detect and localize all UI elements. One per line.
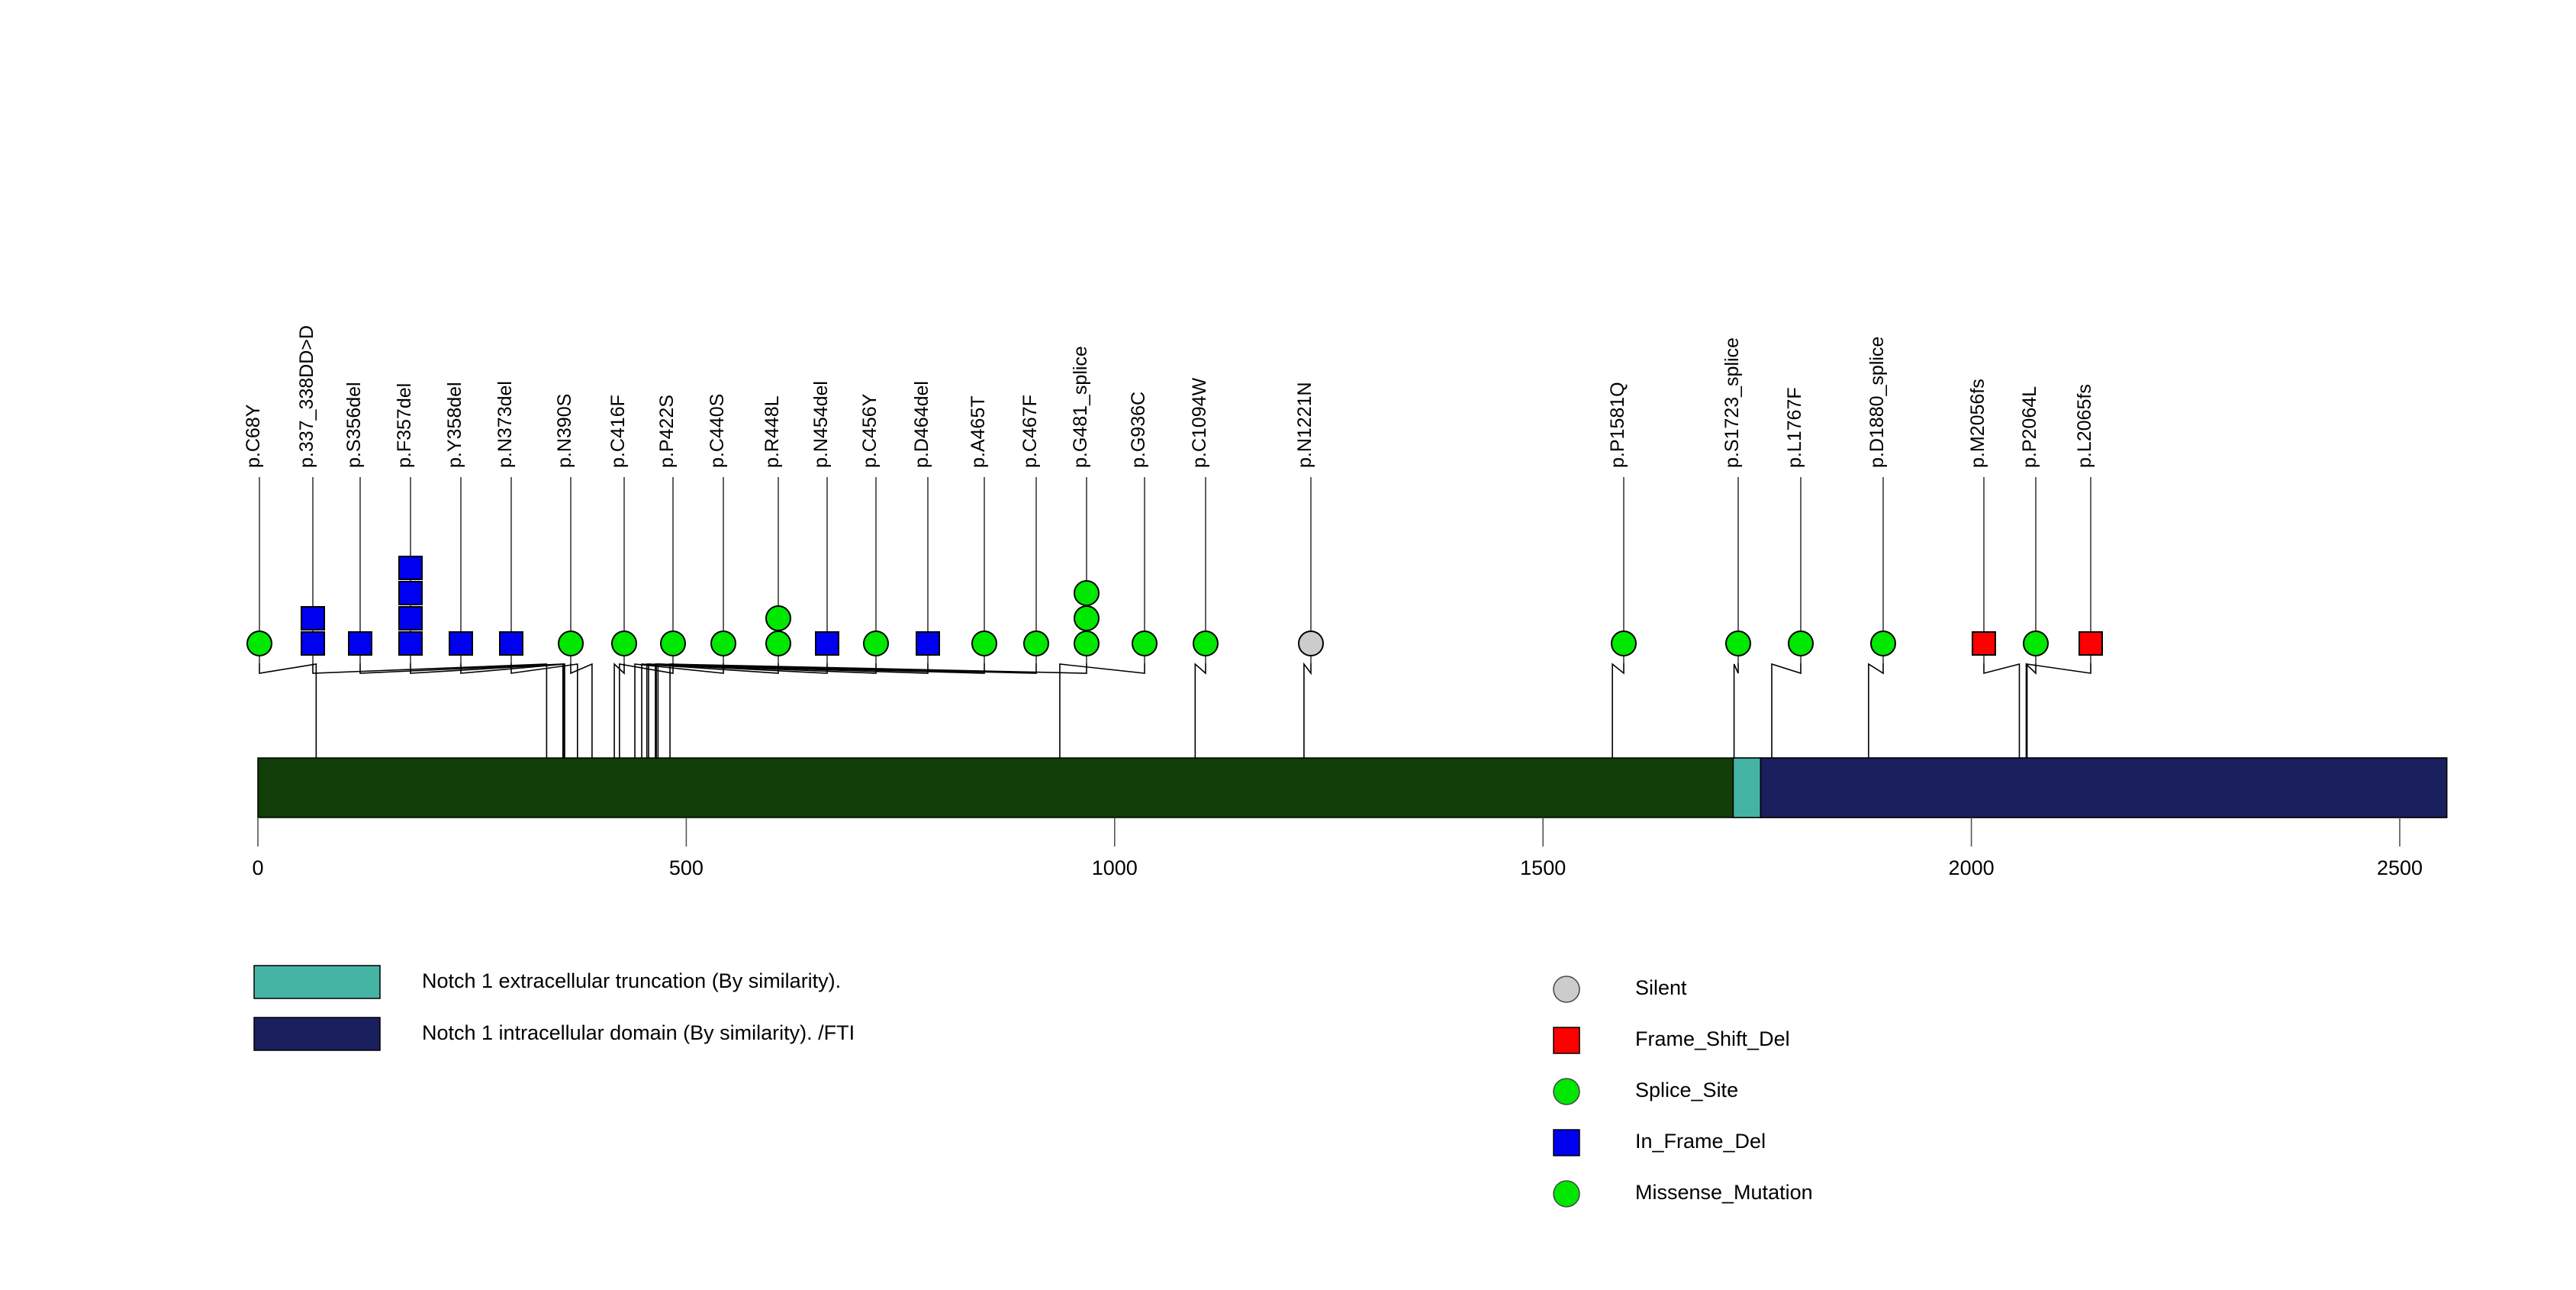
mutation-marker-circle[interactable] (1789, 631, 1813, 656)
type-legend-label: Missense_Mutation (1635, 1181, 1813, 1204)
mutation-label: p.C456Y (859, 393, 881, 468)
mutation-marker-square[interactable] (399, 556, 422, 579)
mutation-label: p.C467F (1019, 395, 1041, 468)
domain-legend-label: Notch 1 intracellular domain (By similar… (422, 1021, 855, 1044)
axis-tick-label: 2500 (2377, 856, 2423, 879)
mutation-label: p.C1094W (1189, 377, 1210, 468)
mutation-marker-square[interactable] (349, 632, 372, 655)
mutation-label: p.C440S (707, 394, 728, 468)
mutation-marker-circle[interactable] (1299, 631, 1323, 656)
mutation-label: p.N373del (494, 381, 516, 468)
type-legend-label: In_Frame_Del (1635, 1130, 1766, 1153)
mutation-label: p.N454del (810, 381, 832, 468)
mutation-marker-circle[interactable] (1871, 631, 1895, 656)
domain-legend-swatch (254, 1017, 380, 1050)
domain-legend-swatch (254, 966, 380, 998)
protein-domain-0[interactable] (1733, 758, 1760, 818)
mutation-marker-circle[interactable] (1193, 631, 1218, 656)
mutation-marker-circle[interactable] (711, 631, 736, 656)
type-legend-label: Frame_Shift_Del (1635, 1027, 1790, 1050)
mutation-marker-circle[interactable] (247, 631, 272, 656)
mutation-marker-circle[interactable] (1024, 631, 1048, 656)
mutation-marker-circle[interactable] (661, 631, 685, 656)
mutation-marker-circle[interactable] (766, 606, 791, 630)
type-legend-swatch-square (1554, 1130, 1579, 1156)
mutation-marker-square[interactable] (399, 607, 422, 630)
mutation-label: p.N1221N (1294, 382, 1315, 468)
axis-tick-label: 1000 (1092, 856, 1138, 879)
mutation-label: p.P422S (656, 395, 678, 468)
protein-backbone-group (258, 758, 2447, 818)
type-legend-swatch-circle (1554, 1079, 1579, 1105)
type-legend-label: Splice_Site (1635, 1079, 1738, 1101)
mutation-label: p.A465T (968, 395, 989, 468)
mutation-marker-circle[interactable] (1074, 631, 1099, 656)
protein-domain-1[interactable] (1760, 758, 2446, 818)
mutation-marker-square[interactable] (301, 632, 324, 655)
mutation-label: p.M2056fs (1967, 379, 1988, 468)
mutation-label: p.L2065fs (2074, 384, 2095, 468)
mutation-marker-circle[interactable] (1074, 581, 1099, 605)
axis-tick-label: 2000 (1949, 856, 1995, 879)
mutation-label: p.Y358del (444, 382, 465, 468)
mutation-marker-circle[interactable] (2024, 631, 2048, 656)
mutation-marker-circle[interactable] (612, 631, 636, 656)
mutation-marker-circle[interactable] (766, 631, 791, 656)
plot-background (0, 0, 2576, 1290)
mutation-marker-square[interactable] (449, 632, 472, 655)
mutation-label: p.P2064L (2019, 386, 2040, 468)
mutation-marker-square[interactable] (1972, 632, 1995, 655)
axis-tick-label: 0 (252, 856, 263, 879)
mutation-marker-square[interactable] (916, 632, 939, 655)
mutation-label: p.N390S (554, 394, 575, 468)
type-legend-swatch-square (1554, 1027, 1579, 1053)
mutation-marker-circle[interactable] (559, 631, 583, 656)
mutation-marker-square[interactable] (2079, 632, 2102, 655)
mutation-label: p.C68Y (243, 404, 264, 468)
mutation-marker-circle[interactable] (1132, 631, 1157, 656)
type-legend-swatch-circle (1554, 976, 1579, 1002)
mutation-label: p.D464del (911, 381, 932, 468)
mutation-label: p.P1581Q (1607, 382, 1628, 468)
axis-tick-label: 1500 (1520, 856, 1566, 879)
type-legend-label: Silent (1635, 976, 1687, 999)
axis-tick-label: 500 (669, 856, 704, 879)
mutation-label: p.G936C (1128, 392, 1149, 468)
mutation-marker-circle[interactable] (864, 631, 888, 656)
mutation-label: p.C416F (607, 395, 629, 468)
mutation-marker-square[interactable] (399, 632, 422, 655)
type-legend-swatch-circle (1554, 1181, 1579, 1207)
mutation-marker-circle[interactable] (1726, 631, 1750, 656)
mutation-marker-square[interactable] (399, 582, 422, 605)
domain-legend-label: Notch 1 extracellular truncation (By sim… (422, 969, 841, 992)
mutation-label: p.G481_splice (1070, 346, 1091, 468)
mutation-marker-circle[interactable] (1074, 606, 1099, 630)
mutation-marker-square[interactable] (301, 607, 324, 630)
mutation-label: p.S356del (343, 382, 365, 468)
mutation-label: p.F357del (394, 383, 415, 468)
mutation-label: p.L1767F (1784, 387, 1805, 468)
lollipop-plot: p.C68Yp.337_338DD>Dp.S356delp.F357delp.Y… (0, 0, 2576, 1290)
mutation-label: p.D1880_splice (1866, 337, 1888, 468)
mutation-lollipop-svg: p.C68Yp.337_338DD>Dp.S356delp.F357delp.Y… (0, 0, 2576, 1290)
mutation-label: p.R448L (762, 395, 783, 468)
mutation-marker-square[interactable] (816, 632, 839, 655)
mutation-marker-circle[interactable] (972, 631, 997, 656)
mutation-marker-circle[interactable] (1612, 631, 1636, 656)
mutation-label: p.S1723_splice (1721, 337, 1743, 468)
mutation-label: p.337_338DD>D (296, 325, 317, 468)
mutation-marker-square[interactable] (500, 632, 523, 655)
